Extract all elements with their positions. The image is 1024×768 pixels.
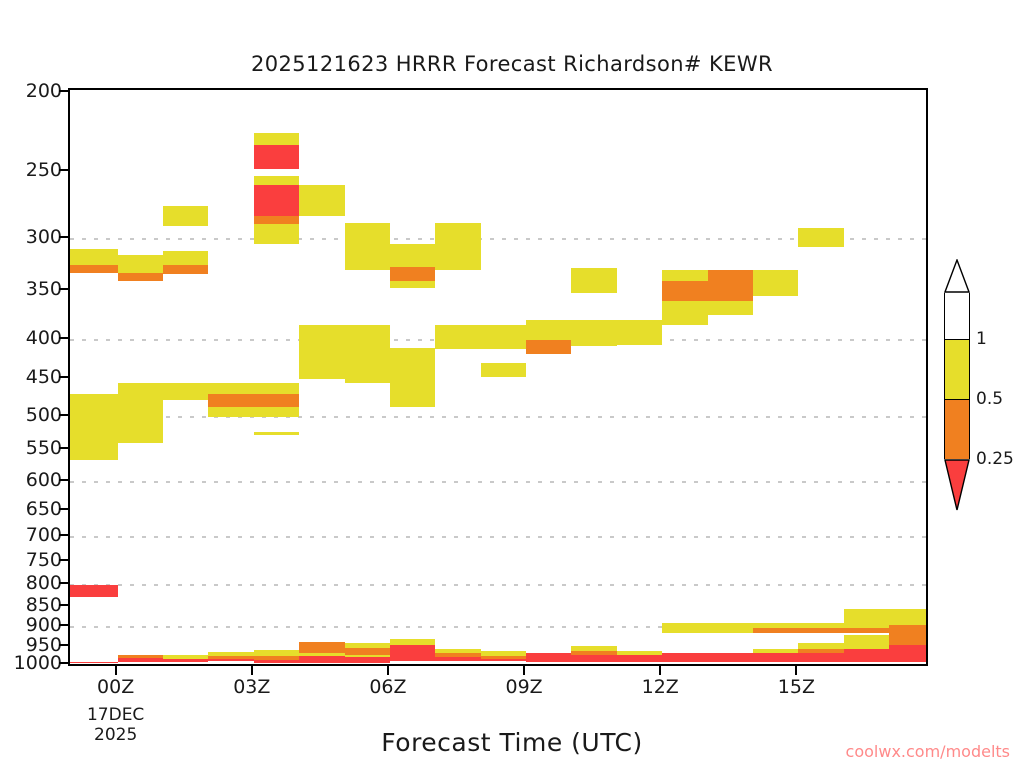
colorbar-bottom-arrow <box>944 459 970 511</box>
surface-cell <box>390 645 435 662</box>
data-cell <box>889 625 928 637</box>
y-axis-tick <box>59 90 68 92</box>
data-cell <box>163 265 208 274</box>
x-axis-tick <box>115 666 117 675</box>
y-axis-tick-label: 450 <box>2 366 62 388</box>
colorbar-segment[interactable] <box>944 293 970 339</box>
y-axis-tick-label: 500 <box>2 404 62 426</box>
data-cell <box>208 394 253 407</box>
data-cell <box>662 623 707 633</box>
y-axis-tick-label: 250 <box>2 159 62 181</box>
data-cell <box>798 628 843 633</box>
x-axis-tick-label: 15Z <box>736 676 856 698</box>
y-axis-tick <box>59 559 68 561</box>
surface-line <box>889 662 928 666</box>
surface-cell <box>299 642 344 654</box>
y-axis-tick-label: 750 <box>2 549 62 571</box>
colorbar-legend[interactable]: 10.50.25 <box>944 293 970 471</box>
y-axis-tick <box>59 337 68 339</box>
x-axis-tick <box>523 666 525 675</box>
y-axis-tick-label: 650 <box>2 498 62 520</box>
chart-page: 2025121623 HRRR Forecast Richardson# KEW… <box>0 0 1024 768</box>
colorbar-segment[interactable] <box>944 339 970 399</box>
y-axis-tick <box>59 534 68 536</box>
surface-line <box>208 661 253 665</box>
x-axis-tick <box>251 666 253 675</box>
chart-title: 2025121623 HRRR Forecast Richardson# KEW… <box>0 52 1024 76</box>
data-cell <box>571 268 616 293</box>
data-cell <box>390 244 435 267</box>
data-cell <box>254 185 299 216</box>
x-axis-date-line: 17DEC <box>56 705 176 725</box>
data-cell <box>163 251 208 265</box>
surface-line <box>435 661 480 665</box>
data-cell <box>390 281 435 288</box>
data-cell <box>617 320 662 345</box>
data-cell <box>163 206 208 226</box>
gridline <box>70 664 926 666</box>
y-axis-tick-label: 300 <box>2 226 62 248</box>
surface-line <box>617 662 662 666</box>
surface-cell <box>345 648 390 655</box>
colorbar-top-arrow <box>944 259 970 293</box>
surface-line <box>526 662 571 666</box>
data-cell <box>526 320 571 340</box>
surface-cell <box>889 645 928 663</box>
x-axis-tick-label: 00Z <box>56 676 176 698</box>
x-axis-tick <box>795 666 797 675</box>
plot-area <box>68 88 928 666</box>
data-cell <box>70 265 118 273</box>
surface-line <box>798 662 843 666</box>
colorbar-label: 0.25 <box>976 449 1014 469</box>
x-axis-tick-label: 09Z <box>464 676 584 698</box>
data-cell <box>254 394 299 407</box>
surface-cell <box>844 635 889 649</box>
surface-line <box>481 661 526 665</box>
data-cell <box>798 228 843 247</box>
surface-line <box>254 663 299 666</box>
data-cell <box>708 301 753 316</box>
y-axis-tick-label: 550 <box>2 437 62 459</box>
data-cell <box>390 348 435 407</box>
data-cell <box>526 340 571 354</box>
y-axis-tick <box>59 662 68 664</box>
y-axis-tick-label: 850 <box>2 594 62 616</box>
surface-line <box>571 662 616 666</box>
y-axis-tick <box>59 288 68 290</box>
y-axis-tick <box>59 376 68 378</box>
data-cell <box>254 145 299 169</box>
x-axis-tick-label: 06Z <box>328 676 448 698</box>
y-axis-tick <box>59 644 68 646</box>
colorbar-label: 0.5 <box>976 389 1003 409</box>
data-cell <box>662 270 707 280</box>
data-cell <box>254 176 299 185</box>
data-cell <box>254 407 299 417</box>
data-cell <box>118 273 163 280</box>
y-axis-tick-label: 900 <box>2 614 62 636</box>
y-axis-tick-label: 600 <box>2 469 62 491</box>
terrain-segment <box>208 665 253 666</box>
data-cell <box>481 325 526 349</box>
surface-line <box>299 663 344 666</box>
y-axis-tick <box>59 479 68 481</box>
data-cell <box>753 628 798 633</box>
data-cell <box>70 249 118 265</box>
data-cell <box>708 270 753 301</box>
watermark: coolwx.com/modelts <box>846 742 1010 761</box>
data-cell <box>481 363 526 376</box>
data-cell <box>254 133 299 146</box>
colorbar-segment[interactable] <box>944 399 970 459</box>
x-axis-tick <box>387 666 389 675</box>
y-axis-tick-label: 1000 <box>2 652 62 674</box>
data-cell <box>435 223 480 270</box>
y-axis-tick-label: 800 <box>2 572 62 594</box>
data-cell <box>208 383 253 394</box>
data-cell <box>254 216 299 224</box>
y-axis-tick-label: 350 <box>2 278 62 300</box>
surface-cell <box>889 637 928 645</box>
surface-line <box>390 661 435 665</box>
data-cell <box>118 383 163 444</box>
surface-line <box>118 662 163 666</box>
y-axis-tick-label: 200 <box>2 80 62 102</box>
surface-line <box>70 663 118 666</box>
y-axis-tick <box>59 236 68 238</box>
y-axis-tick <box>59 414 68 416</box>
x-axis-tick-label: 12Z <box>600 676 720 698</box>
data-cell <box>299 325 344 379</box>
y-axis-tick <box>59 624 68 626</box>
data-cell <box>208 407 253 417</box>
data-cell <box>844 628 889 633</box>
data-cell <box>662 301 707 326</box>
data-cell <box>889 609 928 625</box>
data-cell <box>70 394 118 459</box>
data-cell <box>753 270 798 296</box>
data-cell <box>299 185 344 216</box>
x-axis-tick <box>659 666 661 675</box>
data-cell <box>70 585 118 597</box>
surface-line <box>662 662 707 666</box>
y-axis-tick <box>59 508 68 510</box>
data-cell <box>662 281 707 301</box>
surface-line <box>163 662 208 666</box>
y-axis-tick-label: 400 <box>2 327 62 349</box>
data-cells <box>70 90 926 664</box>
data-cell <box>163 383 208 400</box>
y-axis-tick <box>59 169 68 171</box>
data-cell <box>708 623 753 633</box>
data-cell <box>254 383 299 394</box>
y-axis-tick-label: 700 <box>2 524 62 546</box>
data-cell <box>571 320 616 346</box>
data-cell <box>345 223 390 270</box>
y-axis-tick <box>59 604 68 606</box>
x-axis-tick-label: 03Z <box>192 676 312 698</box>
surface-cell <box>844 649 889 663</box>
terrain-segment <box>481 665 526 666</box>
terrain-segment <box>390 665 435 666</box>
data-cell <box>254 432 299 435</box>
data-cell <box>844 609 889 628</box>
y-axis-tick <box>59 582 68 584</box>
data-cell <box>254 224 299 244</box>
y-axis-tick <box>59 447 68 449</box>
data-cell <box>345 325 390 383</box>
terrain-segment <box>435 665 480 666</box>
data-cell <box>118 255 163 274</box>
data-cell <box>435 325 480 349</box>
surface-line <box>708 662 753 666</box>
data-cell <box>390 267 435 281</box>
surface-line <box>345 663 390 666</box>
surface-line <box>844 662 889 666</box>
surface-line <box>753 662 798 666</box>
colorbar-label: 1 <box>976 329 987 349</box>
